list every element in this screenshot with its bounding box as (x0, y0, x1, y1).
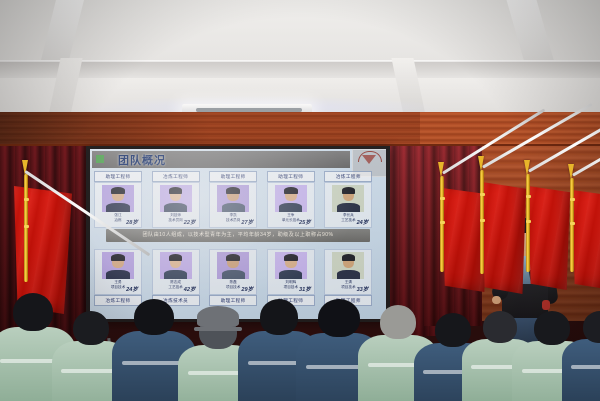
slide-member-card: 李长兵工艺技术24岁 (324, 182, 372, 228)
slide-member-card: 刘技师技术员岗22岁 (152, 182, 200, 228)
member-age: 22岁 (184, 218, 196, 226)
member-photo (217, 185, 249, 212)
ceiling-slab (0, 62, 600, 78)
slide-bullet-icon (96, 155, 104, 163)
flag-pole-ring (570, 198, 575, 201)
audience-head (260, 299, 298, 335)
flag-pole-ring (480, 193, 485, 196)
flag-pole-ring (440, 221, 445, 224)
flag-pole-ring (24, 198, 29, 201)
audience-cap-brim (194, 327, 242, 331)
slide-row1-cards: 张江冶炼28岁刘技师技术员岗22岁李凯技术员岗27岁王争单元长技术25岁李长兵工… (94, 182, 382, 226)
member-photo (275, 185, 307, 212)
member-photo (332, 185, 364, 212)
audience-head (13, 293, 53, 331)
member-photo (275, 252, 307, 279)
flag-pole-ring (440, 197, 445, 200)
flag-pole-ring (480, 219, 485, 222)
audience-head (380, 305, 416, 339)
member-photo (102, 252, 134, 279)
conference-hall-photo: 团队概况 助理工程师冶炼工程师助理工程师助理工程师冶炼工程师 张江冶炼28岁刘技… (0, 0, 600, 401)
member-age: 24岁 (357, 218, 369, 226)
flag-pole-ring (570, 222, 575, 225)
flag-pole (440, 176, 444, 272)
red-flag (560, 170, 600, 300)
member-photo (102, 185, 134, 212)
slide-member-card: 王争单元长技术25岁 (267, 182, 315, 228)
slide-role-tag: 冶炼工程师 (152, 171, 200, 182)
flag-pole (570, 178, 574, 272)
audience-uniform (562, 339, 600, 401)
slide-title: 团队概况 (118, 152, 166, 168)
flag-pole-ring (24, 225, 29, 228)
flag-pole-ring (526, 195, 531, 198)
flag-pole-ring (526, 220, 531, 223)
member-photo (217, 252, 249, 279)
audience-head (134, 299, 174, 335)
member-age: 27岁 (241, 218, 253, 226)
uniform-reflective-stripe (122, 361, 186, 365)
slide-banner: 团队由10人组成，以技术型青年为主，平均年龄34岁，助级及以上职称占90% (106, 229, 370, 242)
slide-banner-text: 团队由10人组成，以技术型青年为主，平均年龄34岁，助级及以上职称占90% (106, 229, 370, 242)
flag-cloth (572, 190, 600, 290)
audience-head (73, 311, 109, 345)
audience (0, 281, 600, 401)
member-age: 25岁 (299, 218, 311, 226)
flag-cloth-folds (572, 190, 600, 290)
audience-head (318, 299, 360, 337)
slide-role-tag: 助理工程师 (94, 171, 142, 182)
slide-row1-tags: 助理工程师冶炼工程师助理工程师助理工程师冶炼工程师 (94, 171, 382, 180)
slide-member-card: 李凯技术员岗27岁 (209, 182, 257, 228)
slide-role-tag: 助理工程师 (209, 171, 257, 182)
member-photo (332, 252, 364, 279)
uniform-reflective-stripe (571, 365, 600, 369)
slide-role-tag: 助理工程师 (267, 171, 315, 182)
member-age: 28岁 (126, 218, 138, 226)
logo-chevron-icon (362, 155, 376, 164)
member-photo (160, 185, 192, 212)
coffered-ceiling (0, 0, 600, 118)
slide-role-tag: 冶炼工程师 (324, 171, 372, 182)
member-photo (160, 252, 192, 279)
flag-pole (526, 174, 530, 272)
audience-member (562, 297, 600, 401)
audience-cap (197, 306, 239, 327)
